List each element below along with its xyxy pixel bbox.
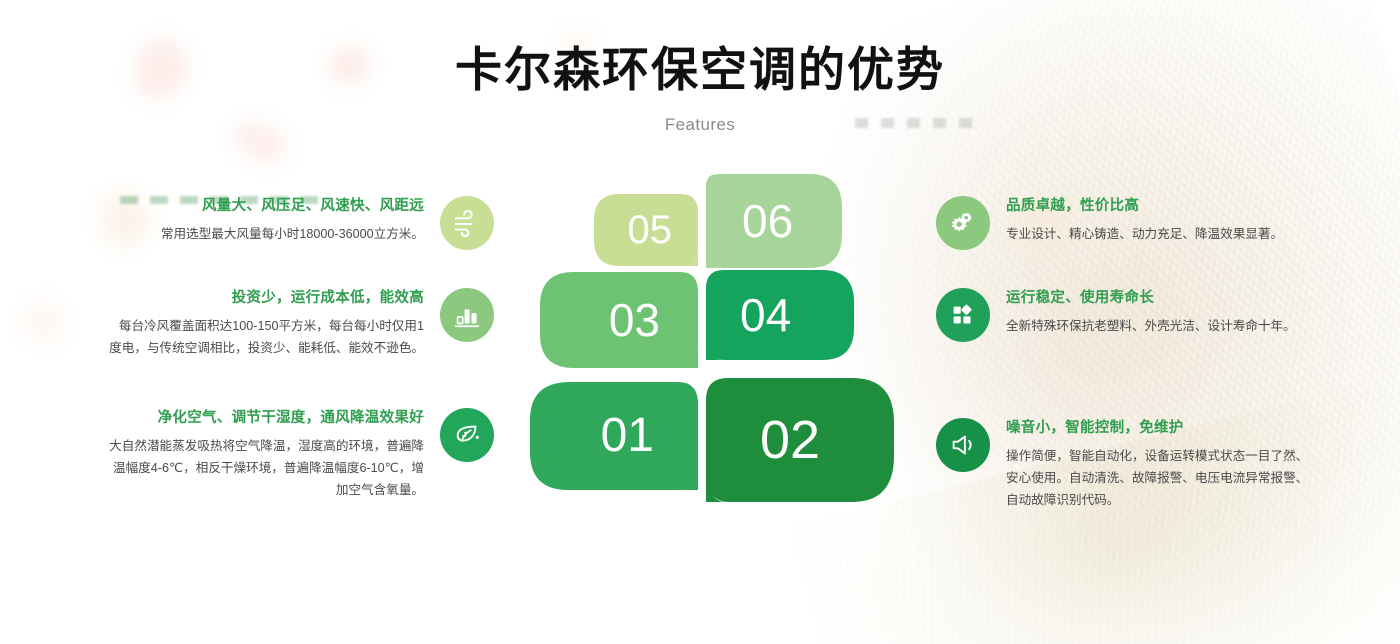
leaf-number: 03 xyxy=(609,297,660,343)
feature-title: 品质卓越，性价比高 xyxy=(1006,196,1318,216)
header: 卡尔森环保空调的优势 Features xyxy=(0,0,1400,135)
leaf-shape-04[interactable]: 04 xyxy=(706,270,854,360)
feature-text-block: 运行稳定、使用寿命长 全新特殊环保抗老塑料、外壳光洁、设计寿命十年。 xyxy=(1006,288,1318,337)
feature-item-cost[interactable]: 投资少，运行成本低，能效高 每台冷风覆盖面积达100-150平方米，每台每小时仅… xyxy=(108,288,494,359)
leaf-shape-03[interactable]: 03 xyxy=(540,272,698,368)
blocks-icon xyxy=(936,288,990,342)
feature-description: 每台冷风覆盖面积达100-150平方米，每台每小时仅用1度电，与传统空调相比，投… xyxy=(108,315,424,359)
feature-item-quality[interactable]: 品质卓越，性价比高 专业设计、精心铸造、动力充足、降温效果显著。 xyxy=(936,196,1318,250)
feature-title: 净化空气、调节干湿度，通风降温效果好 xyxy=(108,408,424,428)
feature-item-wind[interactable]: 风量大、风压足、风速快、风距远 常用选型最大风量每小时18000-36000立方… xyxy=(108,196,494,250)
feature-description: 全新特殊环保抗老塑料、外壳光洁、设计寿命十年。 xyxy=(1006,315,1318,337)
leaf-number: 06 xyxy=(742,198,793,244)
leaf-number: 01 xyxy=(601,412,654,460)
leaf-shape-06[interactable]: 06 xyxy=(706,174,842,268)
feature-text-block: 品质卓越，性价比高 专业设计、精心铸造、动力充足、降温效果显著。 xyxy=(1006,196,1318,245)
feature-title: 运行稳定、使用寿命长 xyxy=(1006,288,1318,308)
leaf-shape-01[interactable]: 01 xyxy=(530,382,698,490)
feature-description: 大自然潜能蒸发吸热将空气降温，湿度高的环境，普遍降温幅度4-6℃，相反干燥环境，… xyxy=(108,435,424,501)
leaf-number: 05 xyxy=(628,210,673,250)
feature-text-block: 噪音小，智能控制，免维护 操作简便，智能自动化，设备运转模式状态一目了然、安心使… xyxy=(1006,418,1318,511)
bar-chart-icon xyxy=(440,288,494,342)
page-title: 卡尔森环保空调的优势 xyxy=(0,42,1400,97)
feature-title: 投资少，运行成本低，能效高 xyxy=(108,288,424,308)
pink-petal-blob-5 xyxy=(17,295,70,348)
feature-title: 风量大、风压足、风速快、风距远 xyxy=(108,196,424,216)
feature-description: 专业设计、精心铸造、动力充足、降温效果显著。 xyxy=(1006,223,1318,245)
wind-icon xyxy=(440,196,494,250)
page-subtitle: Features xyxy=(0,115,1400,135)
feature-item-stability[interactable]: 运行稳定、使用寿命长 全新特殊环保抗老塑料、外壳光洁、设计寿命十年。 xyxy=(936,288,1318,342)
feature-text-block: 净化空气、调节干湿度，通风降温效果好 大自然潜能蒸发吸热将空气降温，湿度高的环境… xyxy=(108,408,424,501)
leaf-icon xyxy=(440,408,494,462)
feature-text-block: 风量大、风压足、风速快、风距远 常用选型最大风量每小时18000-36000立方… xyxy=(108,196,424,245)
feature-text-block: 投资少，运行成本低，能效高 每台冷风覆盖面积达100-150平方米，每台每小时仅… xyxy=(108,288,424,359)
gears-icon xyxy=(936,196,990,250)
leaf-shape-05[interactable]: 05 xyxy=(594,194,698,266)
feature-description: 操作简便，智能自动化，设备运转模式状态一目了然、安心使用。自动清洗、故障报警、电… xyxy=(1006,445,1318,511)
feature-title: 噪音小，智能控制，免维护 xyxy=(1006,418,1318,438)
feature-description: 常用选型最大风量每小时18000-36000立方米。 xyxy=(108,223,424,245)
feature-item-low-noise[interactable]: 噪音小，智能控制，免维护 操作简便，智能自动化，设备运转模式状态一目了然、安心使… xyxy=(936,418,1318,511)
feature-item-air-purify[interactable]: 净化空气、调节干湿度，通风降温效果好 大自然潜能蒸发吸热将空气降温，湿度高的环境… xyxy=(108,408,494,501)
infographic-page: 卡尔森环保空调的优势 Features 风量大、风压足、风速快、风距远 常用选型… xyxy=(0,0,1400,644)
leaf-number: 04 xyxy=(740,292,791,338)
leaf-stem xyxy=(688,168,720,558)
leaf-number-cluster: 05 06 03 04 xyxy=(520,168,920,558)
speaker-icon xyxy=(936,418,990,472)
leaf-shape-02[interactable]: 02 xyxy=(706,378,894,502)
leaf-number: 02 xyxy=(760,413,820,467)
